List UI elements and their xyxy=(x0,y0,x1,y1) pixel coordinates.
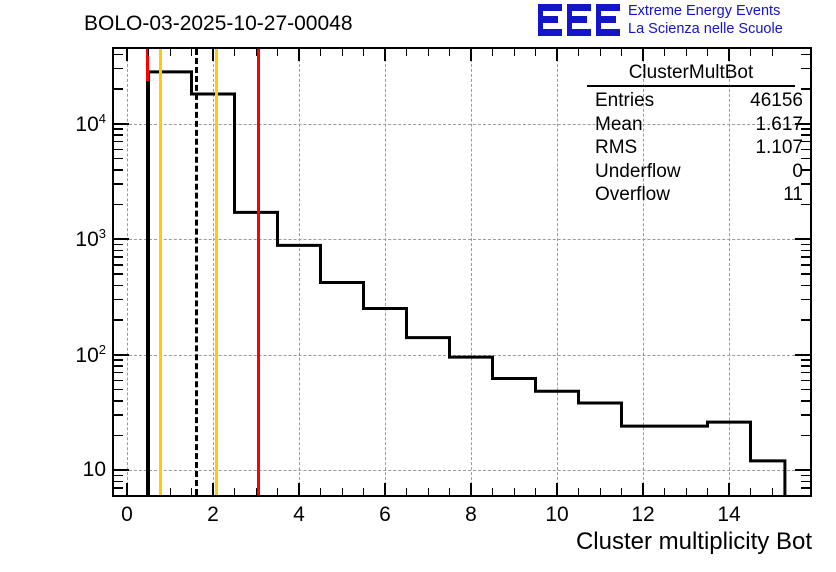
y-axis-tick-right xyxy=(801,380,810,382)
x-axis-tick-label: 6 xyxy=(379,503,391,527)
x-axis-tick-top xyxy=(234,49,235,56)
x-axis-tick-top xyxy=(707,49,708,56)
x-axis-tick xyxy=(384,483,386,495)
x-axis-tick xyxy=(686,488,687,495)
stats-row: Entries46156 xyxy=(573,89,809,113)
eee-logo-line1: Extreme Energy Events xyxy=(628,2,783,20)
y-axis-tick-right xyxy=(801,372,810,374)
x-axis-tick xyxy=(492,488,493,495)
x-axis-tick xyxy=(212,483,214,495)
x-axis-tick xyxy=(148,488,149,495)
x-axis-tick-label: 8 xyxy=(465,503,477,527)
x-axis-tick xyxy=(621,488,622,495)
x-axis-tick xyxy=(642,483,644,495)
stats-row: Mean1.617 xyxy=(573,113,809,137)
y-axis-tick-right xyxy=(801,273,810,275)
y-axis-tick xyxy=(114,158,123,160)
x-axis-tick-top xyxy=(728,49,730,61)
y-axis-tick-label: 104 xyxy=(75,111,106,137)
x-axis-tick xyxy=(234,488,235,495)
y-axis-tick-right xyxy=(801,359,810,361)
y-axis-tick xyxy=(114,256,123,258)
stats-row-value: 1.617 xyxy=(755,113,803,137)
y-axis-tick xyxy=(114,380,123,382)
y-axis-tick xyxy=(114,299,123,301)
root-canvas: BOLO-03-2025-10-27-00048 Extreme Energy … xyxy=(0,0,836,572)
y-axis-tick-label: 103 xyxy=(75,226,106,252)
y-axis-tick xyxy=(114,435,123,437)
x-axis-title: Cluster multiplicity Bot xyxy=(576,528,812,556)
x-axis-tick-top xyxy=(621,49,622,56)
stats-row-key: Underflow xyxy=(595,160,681,184)
stats-row: RMS1.107 xyxy=(573,136,809,160)
y-axis-tick xyxy=(114,400,123,402)
y-axis-tick xyxy=(114,365,123,367)
y-axis-tick xyxy=(114,285,123,287)
eee-letter-3-icon xyxy=(596,4,620,36)
x-axis-tick xyxy=(578,488,579,495)
x-axis-tick-top xyxy=(750,49,751,56)
x-axis-tick-top xyxy=(514,49,515,56)
stats-row-value: 0 xyxy=(792,160,803,184)
x-axis-tick-label: 4 xyxy=(293,503,305,527)
y-axis-tick-right xyxy=(801,481,810,483)
y-axis-tick xyxy=(114,389,123,391)
x-axis-tick xyxy=(191,488,192,495)
stats-box-title: ClusterMultBot xyxy=(587,62,795,87)
y-axis-tick-right xyxy=(801,285,810,287)
stats-row: Underflow0 xyxy=(573,160,809,184)
x-axis-tick-label: 0 xyxy=(121,503,133,527)
stats-row-key: Mean xyxy=(595,113,643,137)
x-axis-tick xyxy=(470,483,472,495)
x-axis-tick xyxy=(126,483,128,495)
x-axis-tick xyxy=(170,488,171,495)
stats-row: Overflow11 xyxy=(573,183,809,207)
eee-logo: Extreme Energy Events La Scienza nelle S… xyxy=(538,2,834,40)
y-axis-tick xyxy=(114,273,123,275)
x-axis-tick-top xyxy=(492,49,493,56)
y-axis-tick xyxy=(114,123,129,125)
x-axis-tick-top xyxy=(578,49,579,56)
y-axis-tick-right xyxy=(801,54,810,56)
eee-logo-mark xyxy=(538,4,622,36)
y-axis-tick-right xyxy=(801,414,810,416)
y-axis-tick-right xyxy=(801,299,810,301)
stats-row-key: RMS xyxy=(595,136,637,160)
x-axis-tick-top xyxy=(277,49,278,56)
y-axis-tick xyxy=(114,475,123,477)
stats-box: ClusterMultBot Entries46156Mean1.617RMS1… xyxy=(573,62,809,207)
y-axis-tick xyxy=(114,141,123,143)
x-axis-tick xyxy=(277,488,278,495)
eee-letter-2-icon xyxy=(567,4,591,36)
y-axis-tick-right xyxy=(801,475,810,477)
x-axis-tick-label: 12 xyxy=(631,503,654,527)
x-axis-tick-top xyxy=(428,49,429,56)
x-axis-tick xyxy=(728,483,730,495)
x-axis-tick xyxy=(449,488,450,495)
y-axis-tick-right xyxy=(801,319,810,321)
y-axis-tick-right xyxy=(795,238,810,240)
x-axis-tick xyxy=(320,488,321,495)
x-axis-tick xyxy=(428,488,429,495)
x-axis-tick xyxy=(772,488,773,495)
x-axis-tick xyxy=(664,488,665,495)
x-axis-tick-top xyxy=(170,49,171,56)
x-axis-tick-label: 2 xyxy=(207,503,219,527)
y-axis-tick-right xyxy=(801,435,810,437)
y-axis-tick xyxy=(114,250,123,252)
y-axis-tick-right xyxy=(801,389,810,391)
x-axis-tick xyxy=(707,488,708,495)
y-axis-tick-right xyxy=(801,256,810,258)
y-axis-tick xyxy=(114,134,123,136)
x-axis-tick-top xyxy=(556,49,558,61)
x-axis-tick-top xyxy=(664,49,665,56)
x-axis-tick-top xyxy=(148,49,149,56)
y-axis-tick-right xyxy=(801,495,810,497)
x-axis-tick xyxy=(363,488,364,495)
y-axis-tick xyxy=(114,183,123,185)
x-axis-tick xyxy=(750,488,751,495)
y-axis-tick xyxy=(114,264,123,266)
y-axis-tick xyxy=(114,414,123,416)
x-axis-tick-top xyxy=(191,49,192,56)
page-title: BOLO-03-2025-10-27-00048 xyxy=(84,12,353,36)
stats-row-value: 11 xyxy=(783,183,803,207)
stats-row-key: Entries xyxy=(595,89,654,113)
x-axis-tick-top xyxy=(535,49,536,56)
y-axis-tick-right xyxy=(801,264,810,266)
y-axis-tick xyxy=(114,54,123,56)
x-axis-tick-top xyxy=(320,49,321,56)
stats-row-value: 1.107 xyxy=(755,136,803,160)
y-axis-tick xyxy=(114,359,123,361)
x-axis-tick-top xyxy=(342,49,343,56)
y-axis-tick xyxy=(114,372,123,374)
x-axis-tick xyxy=(256,488,257,495)
x-axis-tick-top xyxy=(772,49,773,56)
y-axis-tick xyxy=(114,481,123,483)
stats-rows: Entries46156Mean1.617RMS1.107Underflow0O… xyxy=(573,89,809,207)
stats-row-key: Overflow xyxy=(595,183,670,207)
eee-letter-1-icon xyxy=(538,4,562,36)
eee-logo-line2: La Scienza nelle Scuole xyxy=(628,20,783,38)
y-axis-tick xyxy=(114,149,123,151)
x-axis-tick-top xyxy=(600,49,601,56)
y-axis-tick xyxy=(114,244,123,246)
x-axis-tick xyxy=(342,488,343,495)
y-axis-tick xyxy=(114,354,129,356)
y-axis-tick xyxy=(114,204,123,206)
y-axis-tick-right xyxy=(795,354,810,356)
x-axis-tick xyxy=(406,488,407,495)
x-axis-tick-top xyxy=(212,49,214,61)
x-axis-tick-top xyxy=(126,49,128,61)
x-axis-tick xyxy=(556,483,558,495)
eee-logo-text: Extreme Energy Events La Scienza nelle S… xyxy=(628,2,783,38)
y-axis-tick xyxy=(114,238,129,240)
y-axis-tick-label: 10 xyxy=(83,458,106,482)
y-axis-tick xyxy=(114,88,123,90)
x-axis-tick-top xyxy=(384,49,386,61)
y-axis-tick-right xyxy=(801,250,810,252)
x-axis-tick-top xyxy=(449,49,450,56)
y-axis-tick xyxy=(114,128,123,130)
x-axis-tick xyxy=(514,488,515,495)
y-axis-tick-right xyxy=(801,244,810,246)
y-axis-tick-right xyxy=(801,487,810,489)
x-axis-tick-top xyxy=(470,49,472,61)
y-axis-tick xyxy=(114,495,123,497)
y-axis-tick-right xyxy=(801,400,810,402)
x-axis-tick-top xyxy=(363,49,364,56)
x-axis-tick-label: 14 xyxy=(717,503,740,527)
x-axis-tick xyxy=(600,488,601,495)
x-axis-tick xyxy=(298,483,300,495)
x-axis-tick-top xyxy=(406,49,407,56)
y-axis-tick xyxy=(114,319,123,321)
stats-row-value: 46156 xyxy=(750,89,803,113)
x-axis-tick-top xyxy=(256,49,257,56)
x-axis-tick xyxy=(535,488,536,495)
x-axis-tick-top xyxy=(298,49,300,61)
y-axis-tick xyxy=(114,469,129,471)
x-axis-tick-label: 10 xyxy=(545,503,568,527)
y-axis-tick xyxy=(114,487,123,489)
y-axis-tick-right xyxy=(801,365,810,367)
x-axis-tick-top xyxy=(642,49,644,61)
y-axis-tick-right xyxy=(795,469,810,471)
y-axis-tick xyxy=(114,169,123,171)
y-axis-tick-label: 102 xyxy=(75,342,106,368)
x-axis-tick-top xyxy=(686,49,687,56)
y-axis-tick xyxy=(114,68,123,70)
